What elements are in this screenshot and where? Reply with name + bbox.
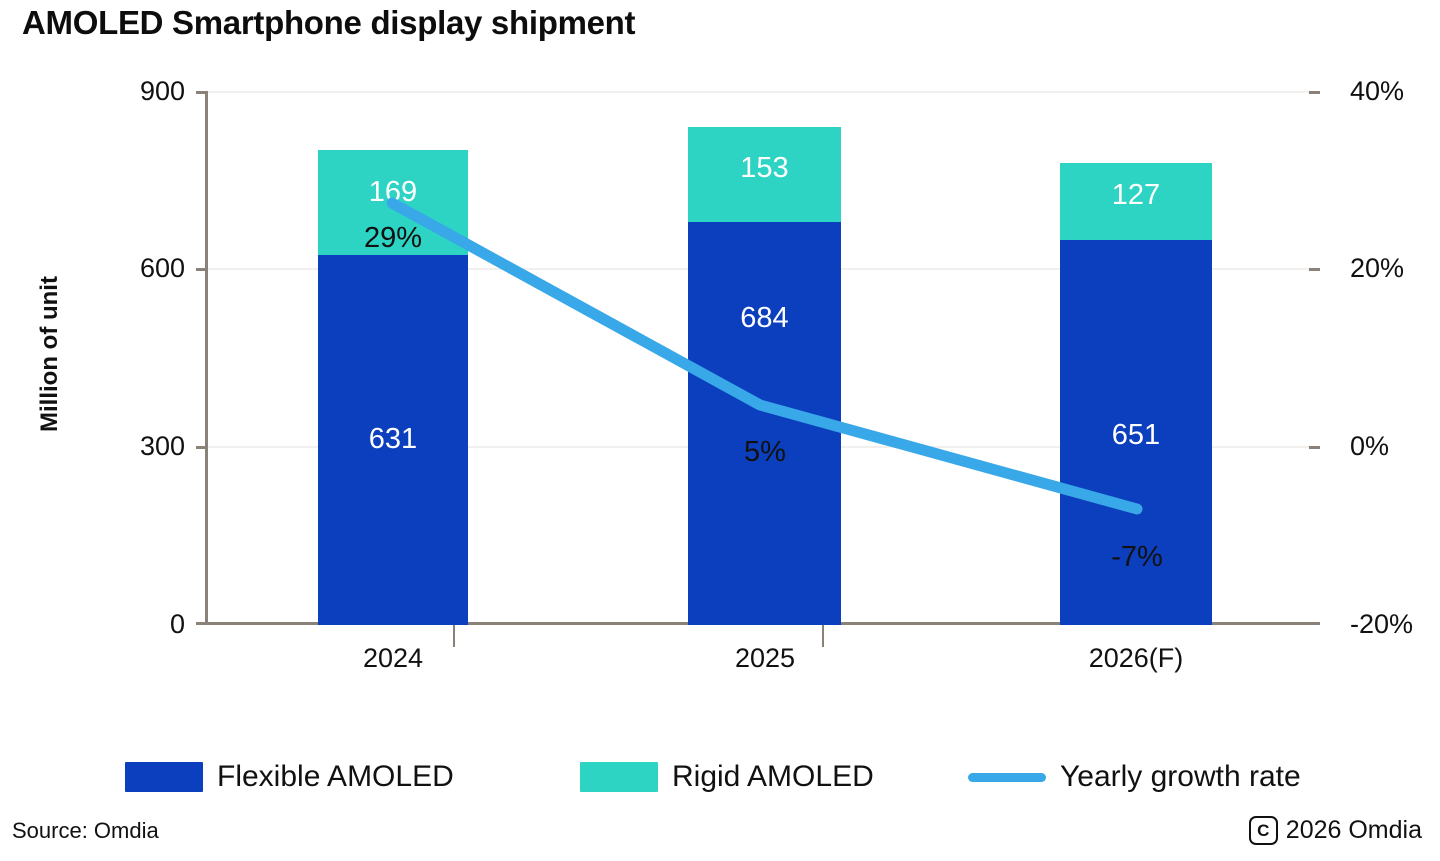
y-tick-label-300: 300 [65,431,185,462]
y-tick-label-600: 600 [65,253,185,284]
y2-tick-label-neg20: -20% [1350,609,1440,640]
y-axis-line [205,91,208,625]
x-tick-label-2025: 2025 [605,643,925,674]
bar-value-label: 153 [688,154,841,183]
x-axis-category-tick [453,624,455,647]
y-axis-tick-300 [196,446,206,449]
y-axis-tick-0 [196,622,206,625]
gridline-900 [205,91,1310,93]
y-tick-label-0: 0 [65,609,185,640]
chart-legend: Flexible AMOLED Rigid AMOLED Yearly grow… [0,752,1440,802]
bar-2026-rigid[interactable]: 127 [1060,163,1212,240]
x-axis-category-tick [822,624,824,647]
square-swatch-icon [125,762,203,792]
bar-value-label: 651 [1060,421,1212,450]
y2-tick-label-20: 20% [1350,253,1440,284]
bar-value-label: 169 [318,178,468,207]
bar-value-label: 631 [318,425,468,454]
source-note: Source: Omdia [12,818,159,844]
y2-axis-tick-neg20 [1309,622,1320,625]
plot-area: 631 169 684 153 651 127 29% 5% -7% [205,91,1310,624]
y2-axis-tick-20 [1309,268,1320,271]
bar-value-label: 684 [688,304,841,333]
y2-axis-tick-0 [1309,446,1320,449]
y2-axis-tick-40 [1309,91,1320,94]
legend-label: Rigid AMOLED [672,760,874,794]
growth-label-2026: -7% [1037,543,1237,572]
bar-2025-flexible[interactable]: 684 [688,222,841,625]
bar-2024-flexible[interactable]: 631 [318,255,468,625]
copyright-text: 2026 Omdia [1286,816,1422,845]
legend-label: Yearly growth rate [1060,760,1301,794]
x-tick-label-2024: 2024 [233,643,553,674]
bar-value-label: 127 [1060,181,1212,210]
y2-tick-label-0: 0% [1350,431,1440,462]
line-swatch-icon [968,773,1046,782]
chart-canvas: AMOLED Smartphone display shipment Milli… [0,0,1440,861]
y-axis-tick-900 [196,91,206,94]
page-title: AMOLED Smartphone display shipment [22,4,635,42]
copyright-icon: C [1249,816,1278,845]
legend-item-yearly-growth-rate[interactable]: Yearly growth rate [968,752,1301,802]
y-axis-title: Million of unit [36,244,64,464]
legend-item-rigid-amoled[interactable]: Rigid AMOLED [580,752,874,802]
square-swatch-icon [580,762,658,792]
growth-label-2024: 29% [293,224,493,253]
legend-label: Flexible AMOLED [217,760,454,794]
copyright-note: C 2026 Omdia [1249,816,1422,845]
x-tick-label-2026: 2026(F) [976,643,1296,674]
y2-tick-label-40: 40% [1350,76,1440,107]
y-tick-label-900: 900 [65,76,185,107]
bar-2025-rigid[interactable]: 153 [688,127,841,222]
growth-label-2025: 5% [665,438,865,467]
y-axis-tick-600 [196,268,206,271]
legend-item-flexible-amoled[interactable]: Flexible AMOLED [125,752,454,802]
